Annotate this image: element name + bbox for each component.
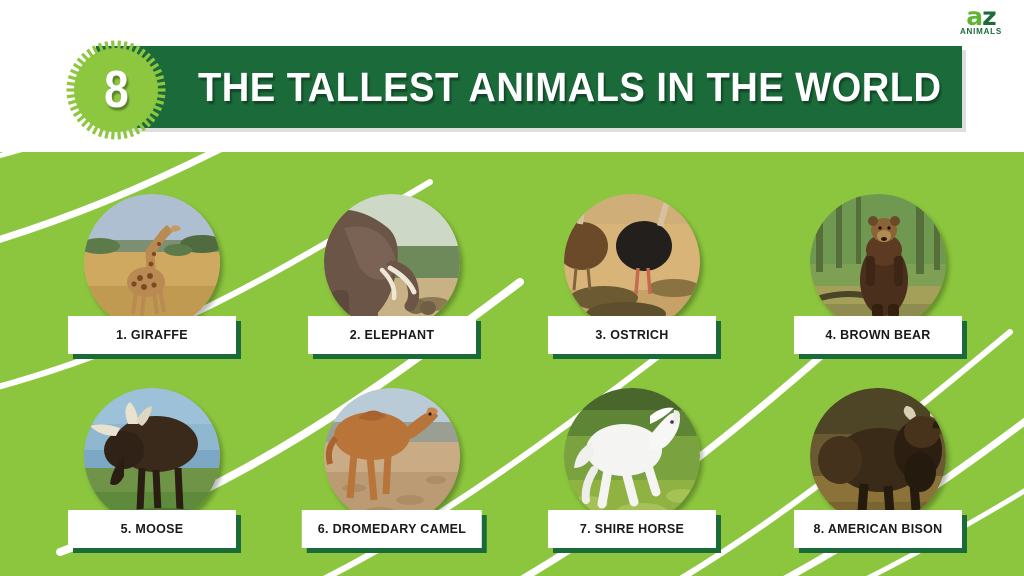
animal-label-4: 4. BROWN BEAR (825, 328, 930, 342)
label-card-7: 7. SHIRE HORSE (548, 510, 716, 548)
ostrich-photo (564, 194, 700, 330)
content-area: 1. GIRAFFE (0, 152, 1024, 576)
badge-number-text: 8 (104, 64, 129, 116)
american-bison-photo (810, 388, 946, 524)
logo-wordmark: ANIMALS (950, 27, 1012, 36)
label-card-8: 8. AMERICAN BISON (794, 510, 962, 548)
animal-label-7: 7. SHIRE HORSE (580, 522, 684, 536)
label-card-6: 6. DROMEDARY CAMEL (302, 510, 482, 548)
infographic-page: az ANIMALS THE TALLEST ANIMALS IN THE WO… (0, 0, 1024, 576)
animal-grid: 1. GIRAFFE (0, 152, 1024, 576)
elephant-photo (324, 194, 460, 330)
title-banner: THE TALLEST ANIMALS IN THE WORLD (96, 46, 962, 128)
giraffe-photo (84, 194, 220, 330)
header: az ANIMALS THE TALLEST ANIMALS IN THE WO… (0, 0, 1024, 152)
az-animals-logo: az ANIMALS (950, 4, 1012, 42)
brown-bear-photo (810, 194, 946, 330)
logo-mark: az (950, 4, 1012, 29)
page-title: THE TALLEST ANIMALS IN THE WORLD (198, 67, 942, 108)
shire-horse-photo (564, 388, 700, 524)
animal-label-2: 2. ELEPHANT (350, 328, 435, 342)
label-card-2: 2. ELEPHANT (308, 316, 476, 354)
animal-label-1: 1. GIRAFFE (116, 328, 188, 342)
label-card-5: 5. MOOSE (68, 510, 236, 548)
animal-label-5: 5. MOOSE (121, 522, 184, 536)
dromedary-camel-photo (324, 388, 460, 524)
label-card-1: 1. GIRAFFE (68, 316, 236, 354)
animal-label-3: 3. OSTRICH (595, 328, 668, 342)
animal-label-6: 6. DROMEDARY CAMEL (318, 522, 466, 536)
label-card-4: 4. BROWN BEAR (794, 316, 962, 354)
label-card-3: 3. OSTRICH (548, 316, 716, 354)
animal-label-8: 8. AMERICAN BISON (814, 522, 943, 536)
moose-photo (84, 388, 220, 524)
badge-core: 8 (75, 49, 157, 131)
number-badge: 8 (66, 40, 166, 140)
